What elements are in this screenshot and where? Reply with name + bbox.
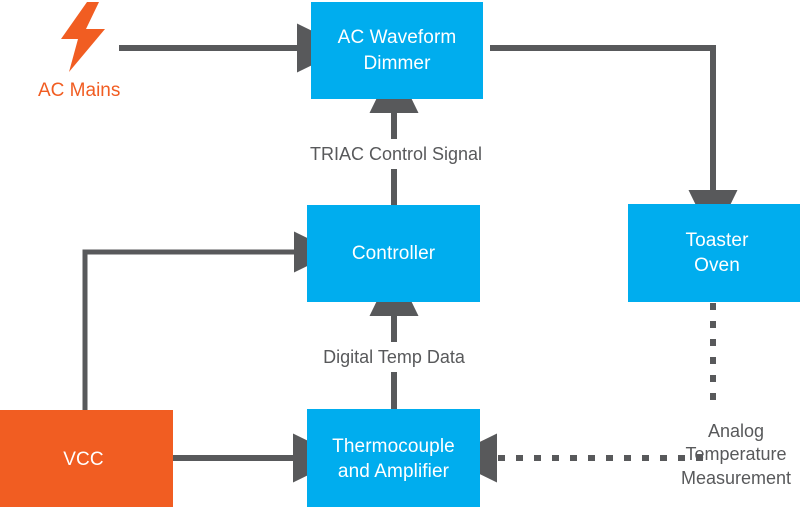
node-vcc-label: VCC: [63, 447, 103, 472]
label-analog-line1: Analog: [672, 420, 800, 443]
node-toaster-oven[interactable]: Toaster Oven: [628, 204, 800, 302]
node-thermocouple-and-amplifier[interactable]: Thermocouple and Amplifier: [307, 409, 480, 507]
node-controller[interactable]: Controller: [307, 205, 480, 302]
block-diagram-canvas: AC Waveform Dimmer Toaster Oven Controll…: [0, 0, 800, 507]
node-controller-label: Controller: [352, 241, 435, 266]
node-thermocouple-line2: and Amplifier: [332, 459, 455, 484]
lightning-bolt-icon: [58, 2, 108, 72]
label-analog-line3: Measurement: [672, 467, 800, 490]
edge-vcc-to-controller: [85, 252, 300, 410]
label-ac-mains: AC Mains: [38, 80, 120, 102]
node-toaster-oven-line2: Oven: [685, 253, 748, 278]
edge-dimmer-to-oven: [490, 48, 713, 197]
node-ac-waveform-dimmer[interactable]: AC Waveform Dimmer: [311, 2, 483, 99]
label-analog-temperature-measurement: Analog Temperature Measurement: [672, 420, 800, 490]
node-ac-waveform-dimmer-line2: Dimmer: [338, 51, 457, 76]
node-ac-waveform-dimmer-line1: AC Waveform: [338, 25, 457, 50]
label-triac-control-signal: TRIAC Control Signal: [286, 143, 506, 166]
node-thermocouple-line1: Thermocouple: [332, 434, 455, 459]
node-vcc[interactable]: VCC: [0, 410, 173, 507]
label-digital-temp-data: Digital Temp Data: [294, 346, 494, 369]
label-analog-line2: Temperature: [672, 443, 800, 466]
node-toaster-oven-line1: Toaster: [685, 228, 748, 253]
